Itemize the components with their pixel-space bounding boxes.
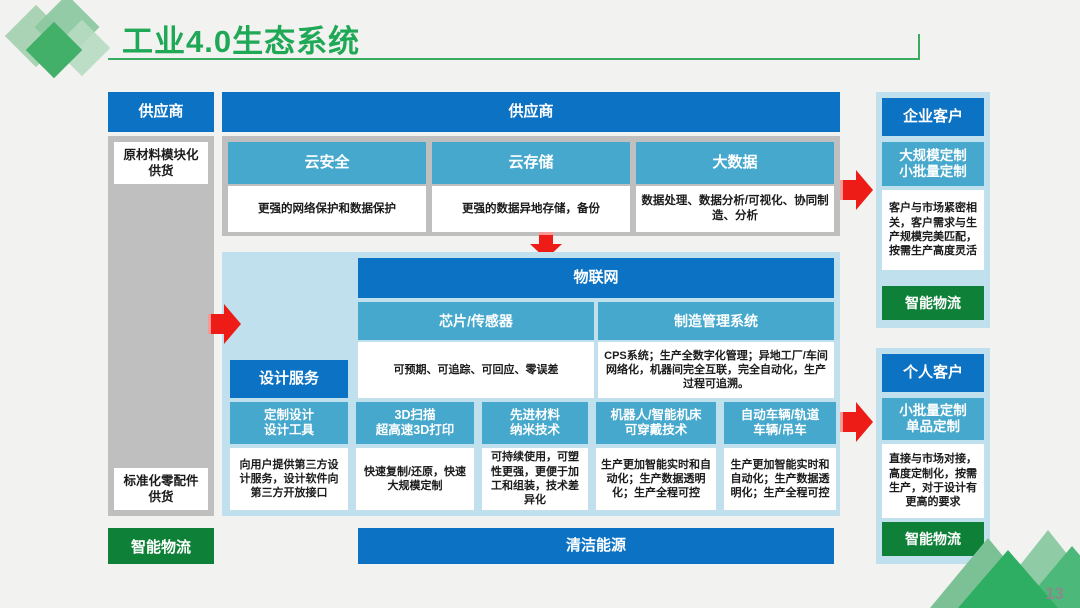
chip-sensor-desc: 可预期、可追踪、可回应、零误差: [358, 342, 594, 398]
clean-energy-bar: 清洁能源: [358, 528, 834, 564]
arrow-right-icon-left: [208, 302, 242, 346]
big-data-title: 大数据: [636, 142, 834, 184]
cloud-column-bigdata: 大数据 数据处理、数据分析/可视化、协同制造、分析: [636, 142, 834, 232]
tech-title-advanced-materials: 先进材料 纳米技术: [482, 402, 588, 444]
smart-logistics-enterprise: 智能物流: [882, 286, 984, 320]
tech-title-auto-vehicles: 自动车辆/轨道 车辆/吊车: [724, 402, 836, 444]
big-data-desc: 数据处理、数据分析/可视化、协同制造、分析: [636, 186, 834, 232]
page-title: 工业4.0生态系统: [122, 16, 360, 61]
enterprise-customization-sub: 大规模定制 小批量定制: [882, 142, 984, 186]
cloud-column-security: 云安全 更强的网络保护和数据保护: [228, 142, 426, 232]
raw-material-modular-supply: 原材料模块化供货: [114, 142, 208, 184]
cloud-security-title: 云安全: [228, 142, 426, 184]
tech-title-3d-printing: 3D扫描 超高速3D打印: [356, 402, 474, 444]
arrow-right-icon-personal: [840, 400, 874, 444]
tech-desc-3d-printing: 快速复制/还原，快速大规模定制: [356, 448, 474, 510]
page-number: 13: [1045, 584, 1064, 604]
decorative-triangle-3: [958, 550, 1058, 608]
standard-parts-supply: 标准化零配件供货: [114, 468, 208, 510]
supplier-center-header: 供应商: [222, 92, 840, 132]
slide-canvas: 工业4.0生态系统 供应商 原材料模块化供货 标准化零配件供货 智能物流 供应商…: [0, 0, 1080, 608]
tech-title-custom-design: 定制设计 设计工具: [230, 402, 348, 444]
personal-customer-header: 个人客户: [882, 354, 984, 392]
iot-header: 物联网: [358, 258, 834, 298]
cloud-security-desc: 更强的网络保护和数据保护: [228, 186, 426, 232]
cloud-column-storage: 云存储 更强的数据异地存储，备份: [432, 142, 630, 232]
title-underline: [108, 58, 920, 60]
title-underline-tick: [918, 34, 920, 60]
manufacturing-mgmt-title: 制造管理系统: [598, 302, 834, 340]
tech-desc-auto-vehicles: 生产更加智能实时和自动化；生产数据透明化；生产全程可控: [724, 448, 836, 510]
smart-logistics-bottom: 智能物流: [108, 528, 214, 564]
enterprise-customer-desc: 客户与市场紧密相关，客户需求与生产规模完美匹配，按需生产高度灵活: [882, 190, 984, 270]
manufacturing-mgmt-desc: CPS系统；生产全数字化管理；异地工厂/车间网络化，机器间完全互联，完全自动化，…: [598, 342, 834, 398]
tech-desc-robotics: 生产更加智能实时和自动化；生产数据透明化；生产全程可控: [596, 448, 716, 510]
supplier-left-panel: [108, 136, 214, 516]
tech-title-robotics: 机器人/智能机床 可穿戴技术: [596, 402, 716, 444]
personal-customization-sub: 小批量定制 单品定制: [882, 398, 984, 440]
cloud-storage-desc: 更强的数据异地存储，备份: [432, 186, 630, 232]
arrow-right-icon-enterprise: [840, 168, 874, 212]
tech-desc-custom-design: 向用户提供第三方设计服务，设计软件向第三方开放接口: [230, 448, 348, 510]
personal-customer-desc: 直接与市场对接，高度定制化，按需生产，对于设计有更高的要求: [882, 444, 984, 518]
enterprise-customer-header: 企业客户: [882, 98, 984, 136]
design-service-box: 设计服务: [230, 360, 348, 398]
tech-desc-advanced-materials: 可持续使用，可塑性更强，更便于加工和组装，技术差异化: [482, 448, 588, 510]
chip-sensor-title: 芯片/传感器: [358, 302, 594, 340]
supplier-left-header: 供应商: [108, 92, 214, 132]
cloud-storage-title: 云存储: [432, 142, 630, 184]
